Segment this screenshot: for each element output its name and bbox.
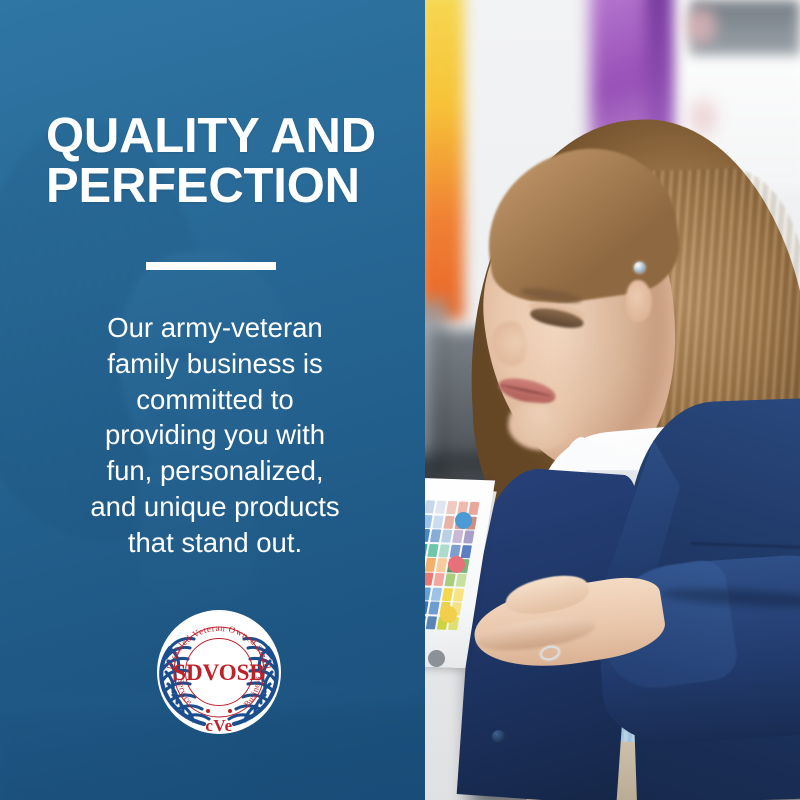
color-swatch <box>442 588 454 601</box>
color-swatch <box>425 558 437 571</box>
promo-graphic: QUALITY AND PERFECTION Our army-veteran … <box>0 0 800 800</box>
color-swatch <box>452 530 464 543</box>
divider-rule <box>146 262 276 270</box>
swatch-dot-yellow <box>440 606 457 623</box>
sdvosb-seal-icon: Disabled Veteran Owned Small Service Bus… <box>148 604 290 738</box>
color-swatch <box>427 544 439 557</box>
body-line-4: providing you with <box>25 417 405 453</box>
color-swatch <box>443 515 455 528</box>
poster-accent-1 <box>686 8 716 44</box>
page-title: QUALITY AND PERFECTION <box>46 112 406 212</box>
color-swatch <box>435 501 447 514</box>
color-swatch <box>425 616 437 629</box>
body-copy: Our army-veteran family business is comm… <box>25 310 405 560</box>
color-swatch <box>430 529 442 542</box>
badge-dot-left <box>206 709 210 713</box>
color-swatch <box>432 515 444 528</box>
body-line-7: that stand out. <box>25 525 405 561</box>
swatch-dot-blue <box>455 512 472 529</box>
badge-cve-label: cVe <box>205 716 232 735</box>
body-line-1: Our army-veteran <box>25 310 405 346</box>
color-swatch <box>438 544 450 557</box>
color-swatch <box>444 573 456 586</box>
color-swatch <box>431 587 443 600</box>
sdvosb-badge: Disabled Veteran Owned Small Service Bus… <box>148 604 290 738</box>
color-swatch <box>424 500 436 513</box>
color-swatch <box>428 602 440 615</box>
badge-acronym: SDVOSB <box>173 660 265 685</box>
headline-line-1: QUALITY AND <box>46 109 376 163</box>
color-swatch <box>441 530 453 543</box>
blazer-button-2 <box>492 730 505 743</box>
swatch-dot-gray <box>428 650 445 667</box>
badge-dot-right <box>228 709 232 713</box>
swatch-dot-red <box>448 556 465 573</box>
headline-line-2: PERFECTION <box>46 162 406 212</box>
panel-content: QUALITY AND PERFECTION Our army-veteran … <box>0 0 425 800</box>
color-swatch <box>436 559 448 572</box>
body-line-6: and unique products <box>25 489 405 525</box>
subject-ear <box>626 280 652 322</box>
body-line-5: fun, personalized, <box>25 453 405 489</box>
body-line-3: committed to <box>25 382 405 418</box>
poster-accent-2 <box>690 100 716 134</box>
earring <box>634 262 645 273</box>
color-swatch <box>433 573 445 586</box>
body-line-2: family business is <box>25 346 405 382</box>
color-swatch <box>446 501 458 514</box>
